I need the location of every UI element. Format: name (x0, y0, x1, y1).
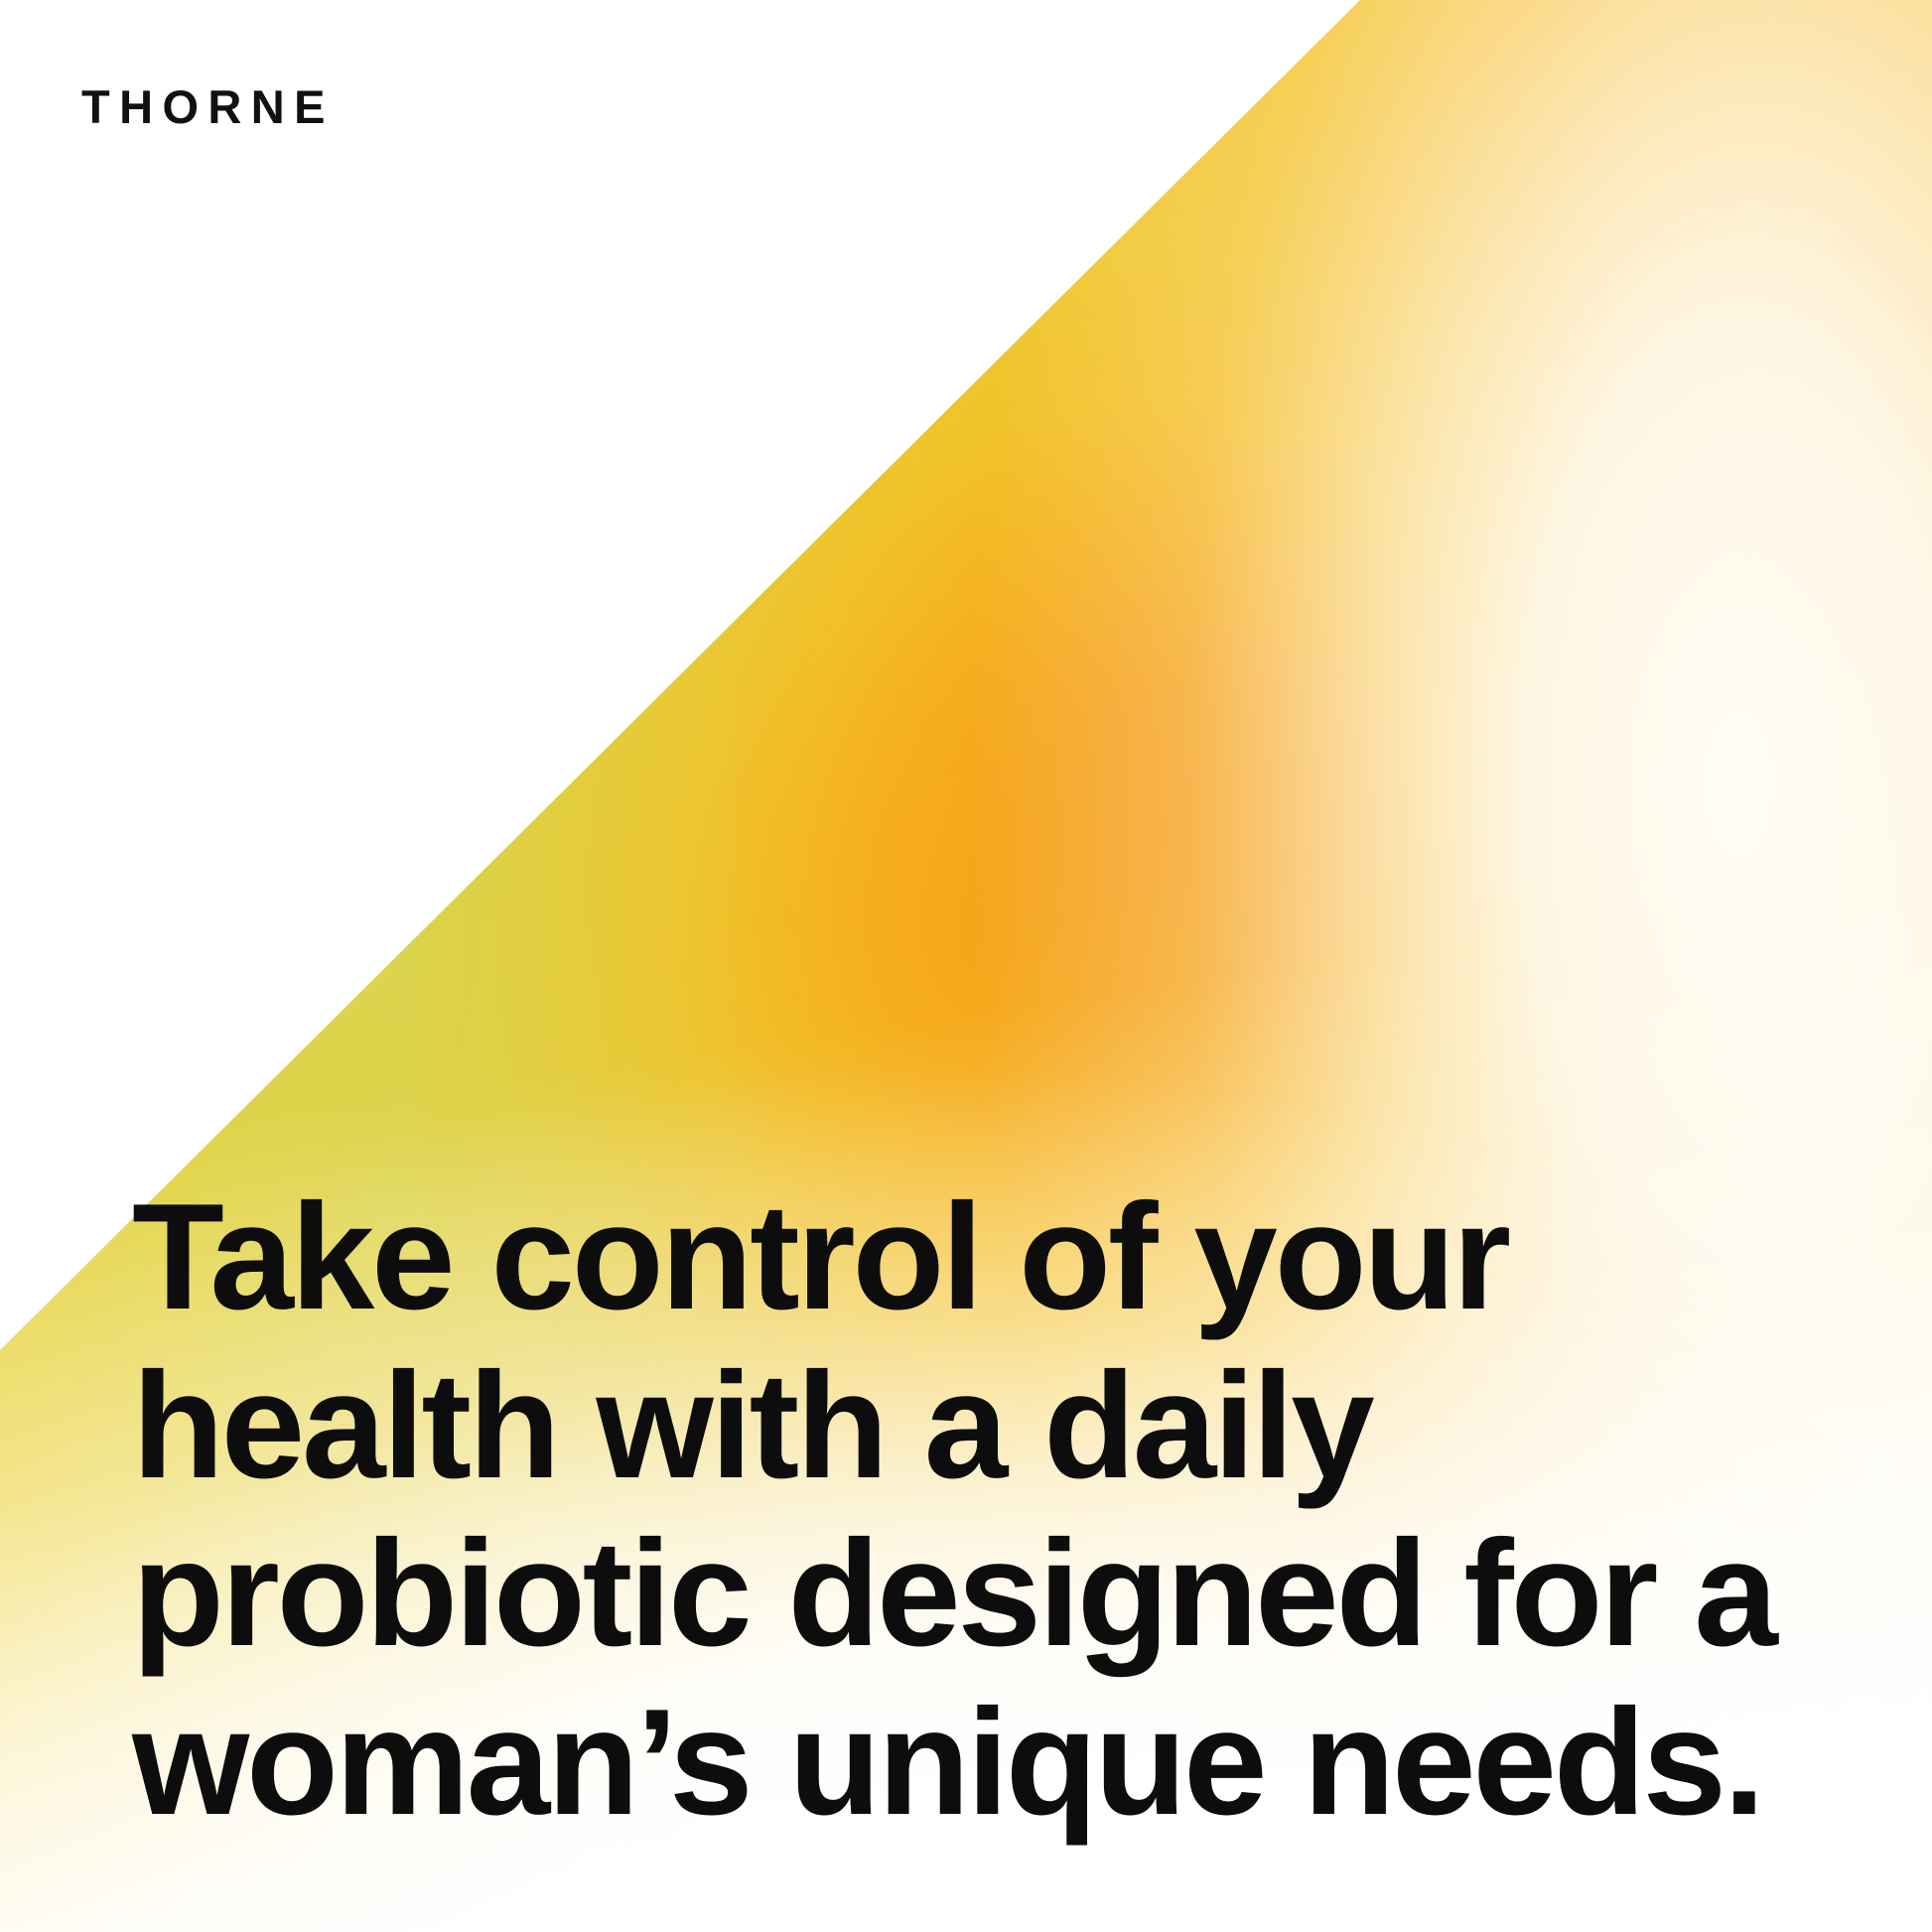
headline-line-4: woman’s unique needs. (132, 1679, 1853, 1847)
headline-line-1: Take control of your (132, 1173, 1853, 1341)
headline-line-2: health with a daily (132, 1342, 1853, 1510)
headline-line-3: probiotic designed for a (132, 1510, 1853, 1678)
thorne-wordmark: THORNE (81, 83, 335, 130)
brand-graphic-canvas: THORNE Take control of your health with … (0, 0, 1932, 1932)
headline: Take control of your health with a daily… (132, 1173, 1853, 1847)
